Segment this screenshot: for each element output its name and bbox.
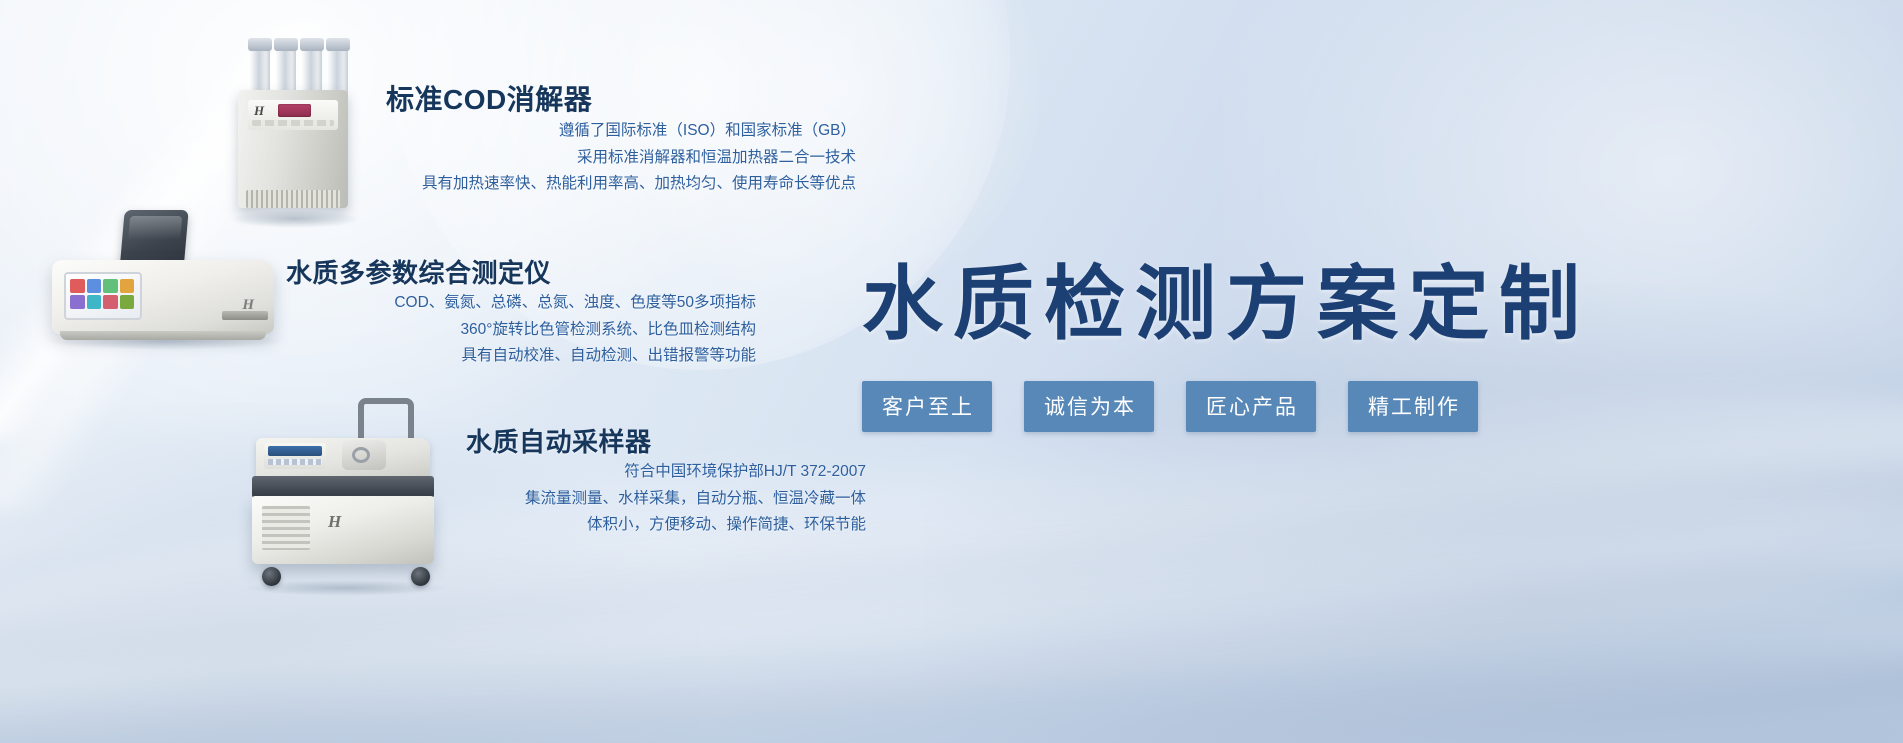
brand-mark: H — [328, 512, 341, 532]
device-base — [60, 331, 266, 340]
product-block-multiparameter-analyzer: 水质多参数综合测定仪 COD、氨氮、总磷、总氮、浊度、色度等50多项指标 360… — [286, 253, 756, 383]
product-description-line: 采用标准消解器和恒温加热器二合一技术 — [386, 145, 856, 172]
display-screen — [268, 446, 322, 456]
tagline-pill-row: 客户至上 诚信为本 匠心产品 精工制作 — [862, 381, 1478, 432]
dark-trim-band — [252, 476, 434, 498]
product-description-line: 具有加热速率快、热能利用率高、加热均匀、使用寿命长等优点 — [386, 171, 856, 198]
product-title: 标准COD消解器 — [386, 78, 856, 118]
touch-screen — [64, 272, 142, 320]
keypad — [252, 120, 334, 126]
refrigerated-cabinet: H — [252, 496, 434, 564]
product-block-auto-water-sampler: 水质自动采样器 符合中国环境保护部HJ/T 372-2007 集流量测量、水样采… — [466, 422, 866, 552]
cod-digester-icon: H — [238, 48, 356, 216]
multiparameter-analyzer-icon: H — [52, 210, 282, 340]
promotional-banner: H 标准COD消解器 遵循了国际标准（ISO）和国家标准（GB） 采用标准消解器… — [0, 0, 1903, 743]
product-description-line: 集流量测量、水样采集，自动分瓶、恒温冷藏一体 — [466, 486, 866, 513]
tagline-pill-1: 客户至上 — [862, 381, 992, 432]
product-description-line: COD、氨氮、总磷、总氮、浊度、色度等50多项指标 — [286, 290, 756, 317]
ventilation-grill — [246, 190, 340, 208]
product-block-cod-digester: 标准COD消解器 遵循了国际标准（ISO）和国家标准（GB） 采用标准消解器和恒… — [386, 78, 856, 208]
display-screen — [278, 104, 311, 117]
tagline-pill-3: 匠心产品 — [1186, 381, 1316, 432]
product-title: 水质自动采样器 — [466, 422, 866, 459]
product-description-line: 360°旋转比色管检测系统、比色皿检测结构 — [286, 317, 756, 344]
auto-water-sampler-icon: H — [246, 398, 446, 588]
caster-wheel — [411, 567, 430, 586]
product-description-line: 具有自动校准、自动检测、出错报警等功能 — [286, 343, 756, 370]
product-title: 水质多参数综合测定仪 — [286, 253, 756, 290]
peristaltic-pump — [342, 440, 386, 470]
brand-mark: H — [254, 103, 270, 118]
control-panel — [264, 443, 326, 469]
product-description: 符合中国环境保护部HJ/T 372-2007 集流量测量、水样采集，自动分瓶、恒… — [466, 459, 866, 539]
screen-icon-grid — [70, 279, 134, 309]
product-description-line: 体积小，方便移动、操作简捷、环保节能 — [466, 512, 866, 539]
product-description: COD、氨氮、总磷、总氮、浊度、色度等50多项指标 360°旋转比色管检测系统、… — [286, 290, 756, 370]
product-description: 遵循了国际标准（ISO）和国家标准（GB） 采用标准消解器和恒温加热器二合一技术… — [386, 118, 856, 198]
keypad — [268, 459, 322, 465]
cuvette-slot — [222, 311, 268, 320]
product-description-line: 遵循了国际标准（ISO）和国家标准（GB） — [386, 118, 856, 145]
ventilation-grill — [262, 506, 310, 550]
tagline-pill-4: 精工制作 — [1348, 381, 1478, 432]
banner-headline: 水质检测方案定制 — [862, 239, 1590, 356]
tagline-pill-2: 诚信为本 — [1024, 381, 1154, 432]
product-description-line: 符合中国环境保护部HJ/T 372-2007 — [466, 459, 866, 486]
caster-wheel — [262, 567, 281, 586]
